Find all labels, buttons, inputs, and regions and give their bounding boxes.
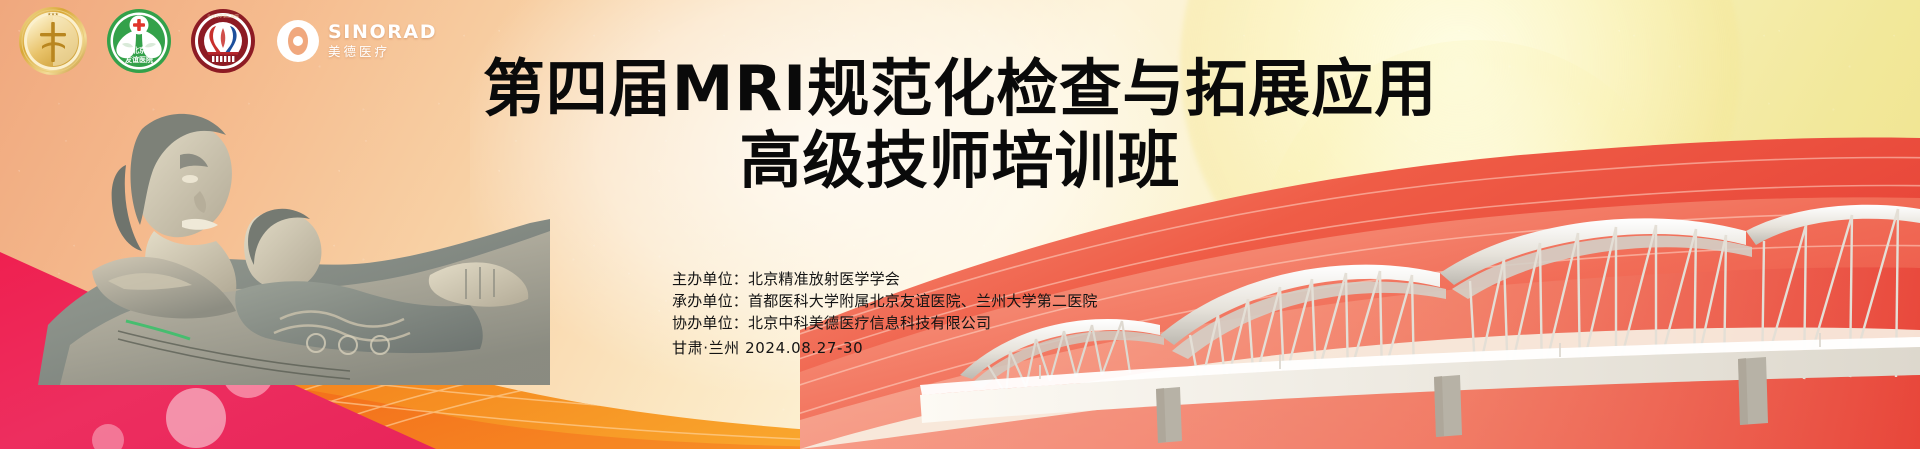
info-host: 主办单位：北京精准放射医学学会 <box>672 268 1098 290</box>
svg-text:兰州大学第二医院: 兰州大学第二医院 <box>207 13 239 19</box>
sinorad-wordmark-block: SINORAD 美德医疗 <box>328 23 437 59</box>
logo-row: ★★★ 北京 友谊医院 <box>18 6 437 76</box>
svg-text:★★★: ★★★ <box>47 12 59 17</box>
info-organizer: 承办单位：首都医科大学附属北京友谊医院、兰州大学第二医院 <box>672 290 1098 312</box>
info-block: 主办单位：北京精准放射医学学会 承办单位：首都医科大学附属北京友谊医院、兰州大学… <box>672 268 1098 359</box>
sinorad-wordmark: SINORAD <box>328 23 437 42</box>
svg-text:友谊医院: 友谊医院 <box>124 55 153 64</box>
sinorad-subtitle: 美德医疗 <box>328 46 437 59</box>
info-coorganizer: 协办单位：北京中科美德医疗信息科技有限公司 <box>672 312 1098 334</box>
yellow-river-mother-sculpture <box>30 95 550 385</box>
conference-banner: ★★★ 北京 友谊医院 <box>0 0 1920 449</box>
beijing-precision-radiology-society-logo: ★★★ <box>18 6 88 76</box>
sinorad-logo: SINORAD 美德医疗 <box>276 19 437 63</box>
lanzhou-university-second-hospital-logo: 兰州大学第二医院 <box>190 8 256 74</box>
sinorad-eye-icon <box>276 19 320 63</box>
info-venue-date: 甘肃·兰州 2024.08.27-30 <box>672 337 1098 359</box>
beijing-friendship-hospital-logo: 北京 友谊医院 <box>106 8 172 74</box>
svg-text:北京: 北京 <box>132 46 146 55</box>
